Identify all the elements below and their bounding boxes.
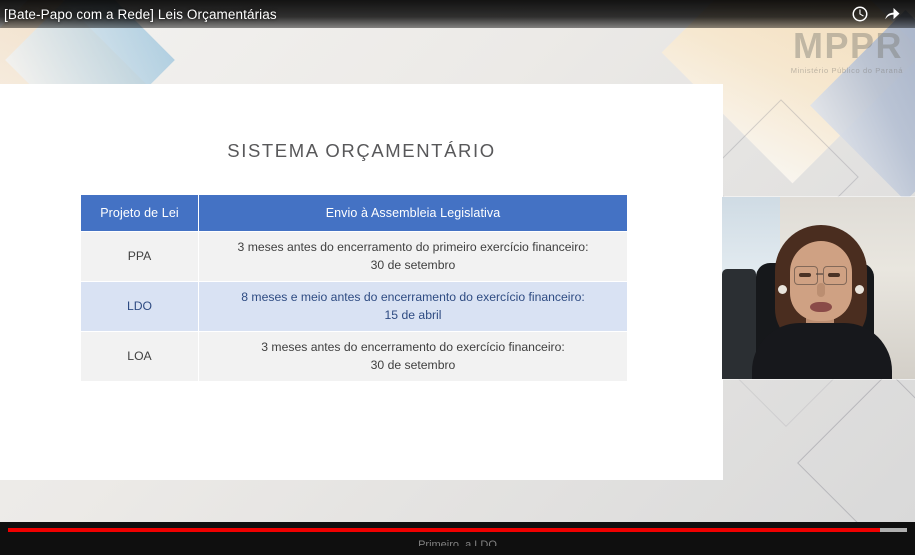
- row-key-loa: LOA: [81, 332, 199, 382]
- table-row-highlighted: LDO 8 meses e meio antes do encerramento…: [81, 282, 628, 332]
- slide-title: SISTEMA ORÇAMENTÁRIO: [0, 140, 723, 162]
- table-header-envio-assembleia: Envio à Assembleia Legislativa: [199, 195, 628, 232]
- table-row: PPA 3 meses antes do encerramento do pri…: [81, 232, 628, 282]
- table-header-projeto-de-lei: Projeto de Lei: [81, 195, 199, 232]
- row-value-line2: 30 de setembro: [199, 257, 627, 275]
- share-icon[interactable]: [883, 5, 901, 23]
- table-body: PPA 3 meses antes do encerramento do pri…: [81, 232, 628, 382]
- speaker-mouth: [810, 302, 832, 312]
- row-value-ldo: 8 meses e meio antes do encerramento do …: [199, 282, 628, 332]
- webcam-chair-left: [722, 269, 756, 379]
- clock-icon[interactable]: [851, 5, 869, 23]
- player-controls[interactable]: Primeiro, a LDO: [0, 522, 915, 555]
- speaker-earring-right: [855, 285, 864, 294]
- table-header: Projeto de Lei Envio à Assembleia Legisl…: [81, 195, 628, 232]
- glasses-lens-left: [794, 266, 818, 285]
- row-value-loa: 3 meses antes do encerramento do exercíc…: [199, 332, 628, 382]
- row-value-ppa: 3 meses antes do encerramento do primeir…: [199, 232, 628, 282]
- glasses-lens-right: [823, 266, 847, 285]
- row-key-ppa: PPA: [81, 232, 199, 282]
- row-key-ldo: LDO: [81, 282, 199, 332]
- decorative-outline-diamond-b: [797, 371, 915, 522]
- row-value-line1: 3 meses antes do encerramento do primeir…: [238, 240, 589, 254]
- row-value-line2: 30 de setembro: [199, 357, 627, 375]
- title-bar-actions: [851, 5, 907, 23]
- video-title-bar: [Bate-Papo com a Rede] Leis Orçamentária…: [0, 0, 915, 28]
- glasses-bridge: [816, 273, 823, 275]
- row-value-line1: 8 meses e meio antes do encerramento do …: [241, 290, 584, 304]
- table-row: LOA 3 meses antes do encerramento do exe…: [81, 332, 628, 382]
- progress-bar-track[interactable]: [8, 528, 907, 532]
- row-value-line1: 3 meses antes do encerramento do exercíc…: [261, 340, 565, 354]
- speaker-nose: [817, 283, 825, 297]
- budget-laws-table: Projeto de Lei Envio à Assembleia Legisl…: [80, 194, 628, 382]
- speaker-earring-left: [778, 285, 787, 294]
- slide-content: SISTEMA ORÇAMENTÁRIO Projeto de Lei Envi…: [0, 84, 723, 480]
- row-value-line2: 15 de abril: [199, 307, 627, 325]
- caption-text: Primeiro, a LDO: [0, 536, 915, 546]
- decorative-diamond-blue-right: [810, 10, 915, 201]
- table-header-row: Projeto de Lei Envio à Assembleia Legisl…: [81, 195, 628, 232]
- progress-bar-played: [8, 528, 880, 532]
- speaker-torso: [752, 323, 892, 379]
- video-viewport[interactable]: MPPR Ministério Público do Paraná SISTEM…: [0, 0, 915, 522]
- speaker-video-overlay[interactable]: [722, 197, 915, 379]
- video-player[interactable]: MPPR Ministério Público do Paraná SISTEM…: [0, 0, 915, 555]
- video-title[interactable]: [Bate-Papo com a Rede] Leis Orçamentária…: [4, 7, 277, 22]
